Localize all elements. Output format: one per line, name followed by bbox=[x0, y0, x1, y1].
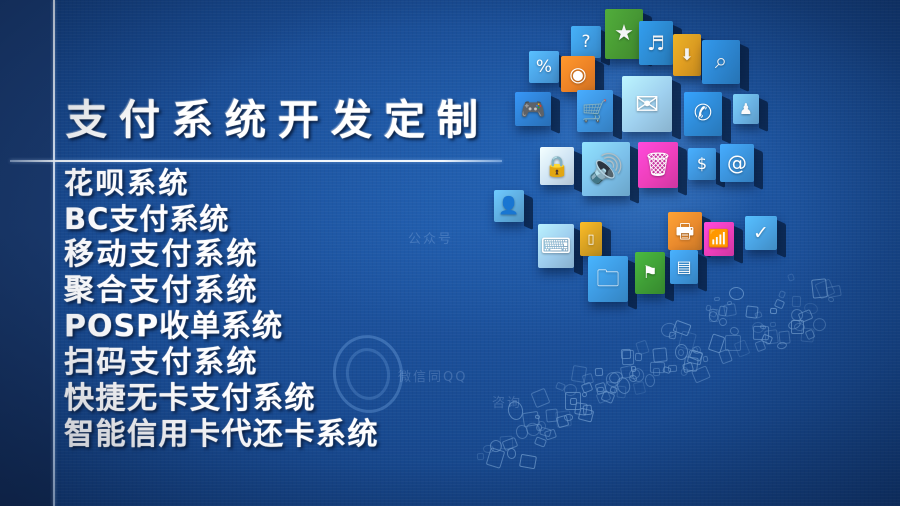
list-item: 移动支付系统 bbox=[64, 238, 624, 272]
horizontal-accent-line bbox=[10, 160, 502, 162]
cart-icon: 🛒 bbox=[577, 90, 613, 132]
micro-icon bbox=[770, 308, 777, 315]
micro-icon bbox=[652, 347, 667, 362]
presentation-slide: ?★♬⬇⌕%◉🎮🛒✉✆♟🔒🔊🗑$@👤⌨▯🖶📶✓🗀⚑▤ 公众号微信同QQ咨询 支付… bbox=[0, 0, 900, 506]
micro-icon bbox=[828, 297, 835, 304]
micro-icon bbox=[733, 339, 750, 358]
micro-icon bbox=[633, 381, 647, 396]
mail-icon: ✉ bbox=[622, 76, 672, 132]
person-icon: ♟ bbox=[733, 94, 759, 124]
micro-icon bbox=[718, 306, 727, 317]
micro-icon bbox=[770, 322, 777, 328]
micro-icon bbox=[702, 356, 708, 363]
page-title: 支付系统开发定制 bbox=[66, 96, 490, 144]
micro-icon bbox=[787, 274, 795, 282]
list-item: BC支付系统 bbox=[64, 202, 624, 236]
list-item: 花呗系统 bbox=[64, 166, 624, 200]
trash-icon: 🗑 bbox=[638, 142, 678, 188]
micro-icon bbox=[477, 453, 484, 460]
micro-icon bbox=[687, 350, 703, 365]
micro-icon bbox=[746, 305, 759, 318]
check-icon: ✓ bbox=[745, 216, 777, 250]
micro-icon bbox=[519, 454, 537, 470]
list-item: POSP收单系统 bbox=[64, 310, 624, 344]
micro-icon bbox=[714, 297, 720, 302]
list-item: 快捷无卡支付系统 bbox=[64, 382, 624, 416]
download-icon: ⬇ bbox=[673, 34, 701, 76]
left-panel bbox=[0, 0, 53, 506]
camera-icon: ◉ bbox=[561, 56, 595, 92]
system-list: 花呗系统BC支付系统移动支付系统聚合支付系统POSP收单系统扫码支付系统快捷无卡… bbox=[64, 166, 624, 454]
micro-icon bbox=[668, 365, 677, 372]
micro-icon bbox=[764, 329, 779, 345]
help-icon: ? bbox=[571, 26, 601, 58]
vertical-accent-line bbox=[53, 0, 55, 506]
music-icon: ♬ bbox=[639, 21, 673, 65]
phone-icon: ✆ bbox=[684, 92, 722, 136]
micro-icon bbox=[653, 368, 660, 376]
list-item: 聚合支付系统 bbox=[64, 274, 624, 308]
rss-icon: 📶 bbox=[704, 222, 734, 256]
dollar-icon: $ bbox=[688, 148, 716, 180]
star-icon: ★ bbox=[605, 9, 643, 59]
micro-icon bbox=[792, 296, 801, 307]
list-item: 智能信用卡代还卡系统 bbox=[64, 418, 624, 452]
micro-icon bbox=[778, 290, 787, 299]
list-item: 扫码支付系统 bbox=[64, 346, 624, 380]
micro-icon bbox=[779, 331, 792, 345]
micro-icon bbox=[718, 317, 728, 328]
micro-icon bbox=[728, 286, 745, 302]
at-icon: @ bbox=[720, 144, 754, 182]
micro-icon bbox=[636, 339, 651, 355]
percent-icon: % bbox=[529, 51, 559, 83]
gamepad-icon: 🎮 bbox=[515, 92, 551, 126]
printer-icon: 🖶 bbox=[668, 212, 702, 250]
search-icon: ⌕ bbox=[702, 40, 740, 84]
